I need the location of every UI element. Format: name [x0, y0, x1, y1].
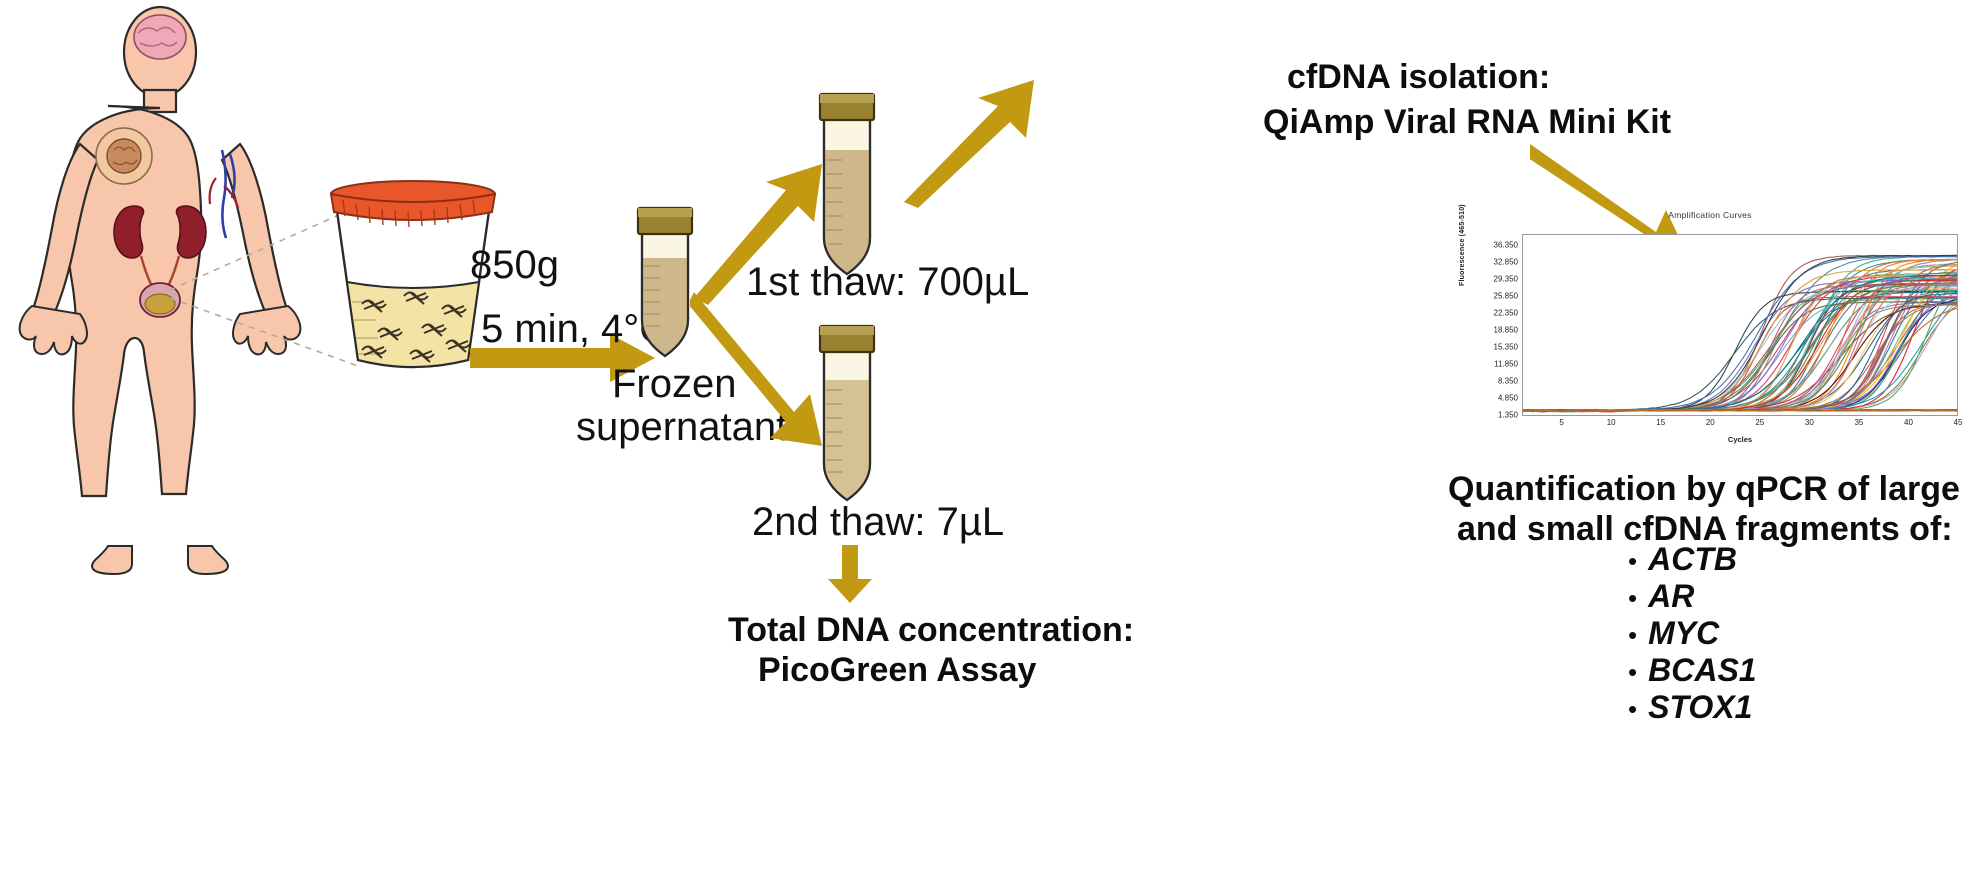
picogreen-assay-label: PicoGreen Assay: [758, 651, 1036, 690]
gene-name: MYC: [1648, 615, 1719, 652]
chart-y-tick: 32.850: [1494, 257, 1518, 266]
chart-y-tick: 36.350: [1494, 240, 1518, 249]
gene-name: STOX1: [1648, 689, 1752, 726]
second-thaw-label: 2nd thaw: 7µL: [752, 500, 1004, 545]
bullet-icon: •: [1628, 696, 1637, 722]
chart-y-tick: 29.350: [1494, 274, 1518, 283]
centrifuge-force-label: 850g: [470, 243, 559, 288]
gene-list: •ACTB•AR•MYC•BCAS1•STOX1: [1628, 541, 1757, 726]
workflow-diagram: 850g 5 min, 4°C Frozen supernatant: [0, 0, 1971, 886]
breast-icon: [96, 128, 152, 184]
centrifuge-tube-icon-thaw2: [802, 318, 892, 508]
cfdna-kit-label: QiAmp Viral RNA Mini Kit: [1263, 103, 1671, 142]
gene-list-item: •ACTB: [1628, 541, 1757, 578]
gene-name: ACTB: [1648, 541, 1737, 578]
chart-x-axis-label: Cycles: [1522, 435, 1958, 444]
quantification-label-line1: Quantification by qPCR of large: [1448, 470, 1960, 509]
gene-list-item: •BCAS1: [1628, 652, 1757, 689]
amplification-curve: [1523, 305, 1957, 411]
chart-y-tick: 22.350: [1494, 308, 1518, 317]
brain-icon: [134, 15, 186, 59]
amplification-curve: [1523, 308, 1957, 410]
centrifuge-tube-icon-thaw1: [802, 86, 892, 286]
chart-y-tick: 11.850: [1494, 360, 1518, 369]
bullet-icon: •: [1628, 622, 1637, 648]
chart-plot-area: [1522, 234, 1958, 416]
picogreen-arrow: [820, 545, 880, 605]
chart-x-ticks: 51015202530354045: [1522, 418, 1958, 432]
chart-y-ticks: 36.35032.85029.35025.85022.35018.85015.3…: [1468, 236, 1520, 422]
gene-list-item: •AR: [1628, 578, 1757, 615]
amplification-curves-chart: Amplification Curves Fluorescence (465-5…: [1460, 210, 1960, 455]
bullet-icon: •: [1628, 585, 1637, 611]
cfdna-isolation-label-line1: cfDNA isolation:: [1287, 58, 1550, 97]
chart-y-tick: 25.850: [1494, 291, 1518, 300]
chart-x-tick: 40: [1904, 418, 1913, 427]
chart-y-tick: 15.350: [1494, 343, 1518, 352]
chart-x-tick: 20: [1706, 418, 1715, 427]
gene-list-item: •STOX1: [1628, 689, 1757, 726]
amplification-curve: [1523, 306, 1957, 411]
gene-name: BCAS1: [1648, 652, 1756, 689]
bullet-icon: •: [1628, 659, 1637, 685]
chart-y-tick: 18.850: [1494, 325, 1518, 334]
chart-x-tick: 30: [1805, 418, 1814, 427]
chart-y-tick: 8.350: [1498, 377, 1518, 386]
chart-title: Amplification Curves: [1460, 210, 1960, 220]
gene-list-item: •MYC: [1628, 615, 1757, 652]
chart-y-tick: 4.850: [1498, 394, 1518, 403]
amplification-curve: [1523, 304, 1957, 410]
chart-x-tick: 10: [1607, 418, 1616, 427]
chart-x-tick: 25: [1755, 418, 1764, 427]
chart-x-tick: 45: [1954, 418, 1963, 427]
chart-y-axis-label: Fluorescence (465-510): [1459, 204, 1466, 286]
chart-y-tick: 1.350: [1498, 411, 1518, 420]
chart-x-tick: 5: [1559, 418, 1563, 427]
chart-x-tick: 15: [1656, 418, 1665, 427]
first-thaw-label: 1st thaw: 700µL: [746, 260, 1029, 305]
gene-name: AR: [1648, 578, 1694, 615]
bullet-icon: •: [1628, 548, 1637, 574]
total-dna-label-line1: Total DNA concentration:: [728, 611, 1134, 650]
cfdna-isolation-arrow: [900, 78, 1040, 208]
chart-x-tick: 35: [1854, 418, 1863, 427]
